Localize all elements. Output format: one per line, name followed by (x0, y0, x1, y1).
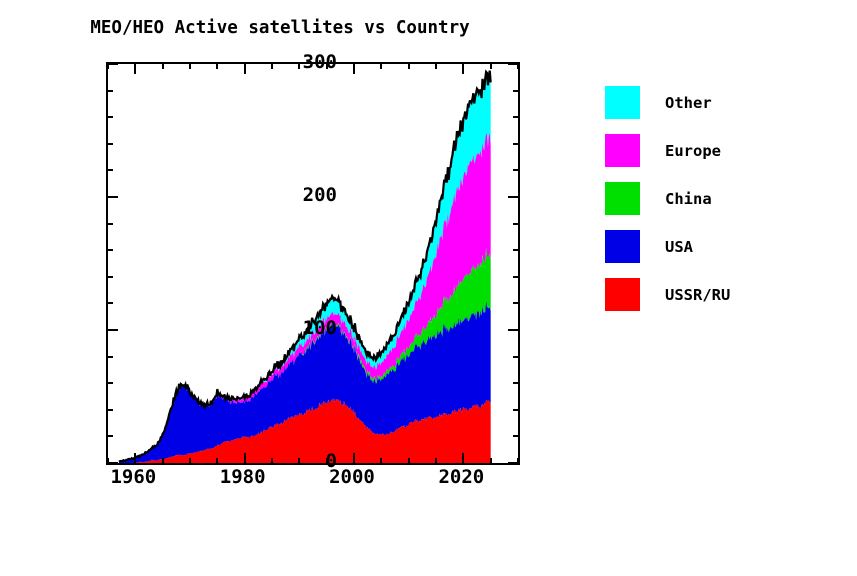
x-tick-label: 1980 (183, 466, 303, 488)
x-tick (107, 458, 109, 465)
x-tick (490, 458, 492, 465)
x-tick (408, 62, 410, 69)
x-tick (517, 62, 519, 69)
legend-label: China (665, 190, 712, 208)
x-tick (380, 458, 382, 465)
y-tick-label: 300 (137, 51, 337, 73)
y-tick (106, 435, 113, 437)
y-tick (508, 196, 520, 198)
x-tick-label: 2000 (292, 466, 412, 488)
y-tick (513, 169, 520, 171)
x-tick (107, 62, 109, 69)
chart-page: MEO/HEO Active satellites vs Country 010… (0, 0, 857, 576)
y-tick (513, 90, 520, 92)
y-tick (106, 249, 113, 251)
x-tick (517, 458, 519, 465)
legend-swatch (605, 278, 640, 311)
plot-area (108, 64, 518, 463)
x-tick (353, 62, 355, 74)
legend-swatch (605, 182, 640, 215)
chart-legend: OtherEuropeChinaUSAUSSR/RU (605, 86, 835, 326)
legend-item-china[interactable]: China (605, 182, 835, 230)
y-tick-label: 100 (137, 317, 337, 339)
x-tick (435, 458, 437, 465)
legend-label: USA (665, 238, 693, 256)
y-tick (106, 90, 113, 92)
x-tick (462, 62, 464, 74)
legend-label: Europe (665, 142, 721, 160)
x-tick (490, 62, 492, 69)
y-tick (106, 169, 113, 171)
y-tick (513, 223, 520, 225)
y-tick (106, 143, 113, 145)
y-tick (106, 196, 118, 198)
legend-item-ussr-ru[interactable]: USSR/RU (605, 278, 835, 326)
legend-label: USSR/RU (665, 286, 730, 304)
chart-title: MEO/HEO Active satellites vs Country (0, 18, 560, 38)
x-tick (408, 458, 410, 465)
y-tick (106, 356, 113, 358)
x-tick-label: 2020 (401, 466, 521, 488)
x-tick-label: 1960 (73, 466, 193, 488)
y-tick (513, 382, 520, 384)
y-tick (513, 409, 520, 411)
x-tick (462, 453, 464, 465)
y-tick (106, 382, 113, 384)
y-tick (513, 356, 520, 358)
stacked-area-plot (108, 64, 518, 463)
y-tick (106, 302, 113, 304)
legend-item-other[interactable]: Other (605, 86, 835, 134)
y-tick (106, 276, 113, 278)
legend-swatch (605, 86, 640, 119)
y-tick-label: 200 (137, 184, 337, 206)
legend-swatch (605, 230, 640, 263)
y-tick (513, 276, 520, 278)
x-tick (353, 453, 355, 465)
legend-item-usa[interactable]: USA (605, 230, 835, 278)
y-tick (106, 223, 113, 225)
y-tick (508, 329, 520, 331)
y-tick (513, 435, 520, 437)
y-tick (513, 302, 520, 304)
legend-swatch (605, 134, 640, 167)
x-tick (380, 62, 382, 69)
y-tick (513, 249, 520, 251)
y-tick (106, 409, 113, 411)
x-tick (435, 62, 437, 69)
y-tick (513, 143, 520, 145)
y-tick (513, 116, 520, 118)
legend-label: Other (665, 94, 712, 112)
plot-frame (106, 62, 520, 465)
y-tick (106, 116, 113, 118)
legend-item-europe[interactable]: Europe (605, 134, 835, 182)
y-tick (106, 329, 118, 331)
